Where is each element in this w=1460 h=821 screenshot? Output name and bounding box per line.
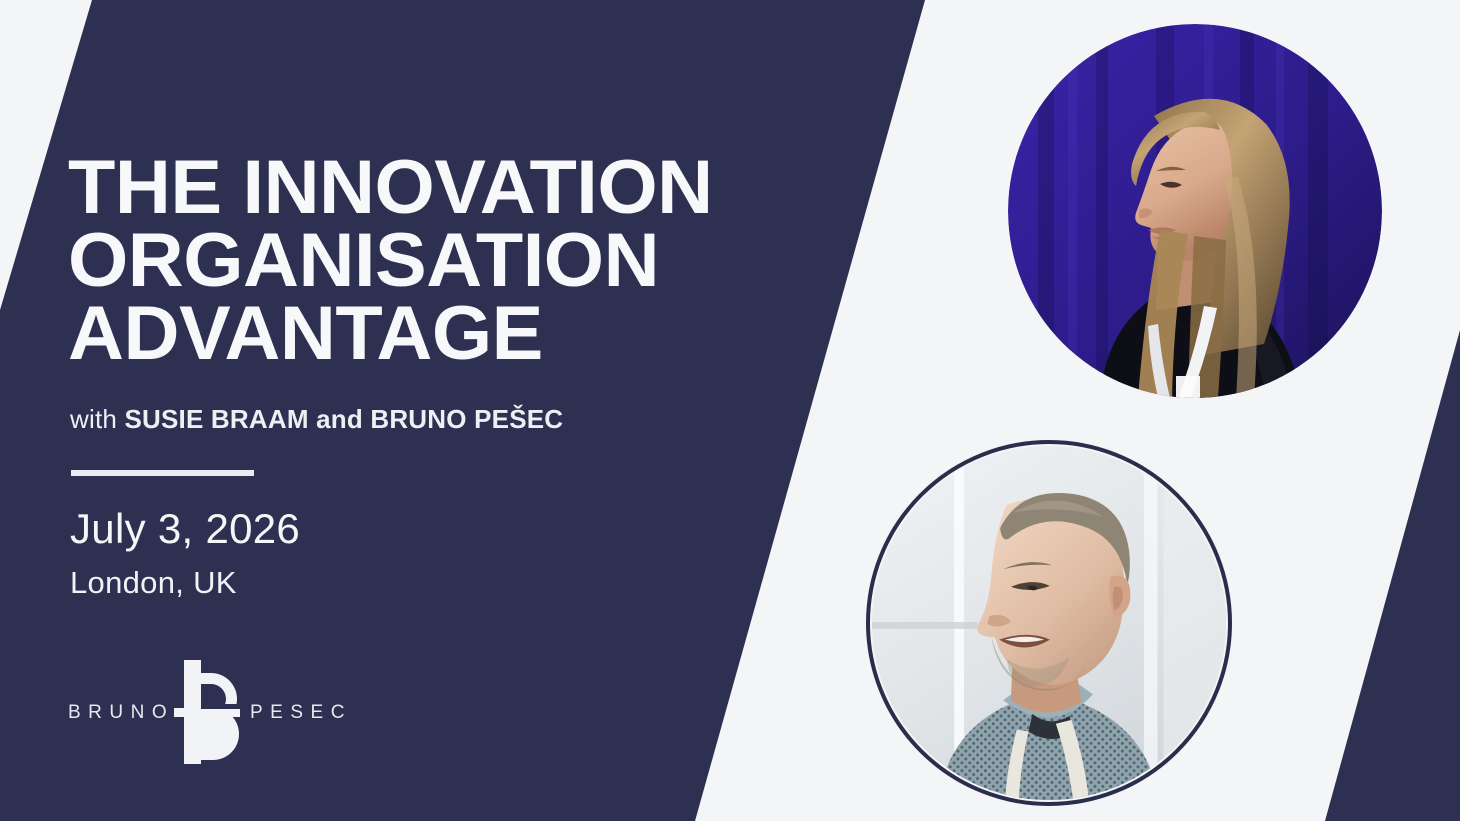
- bp-monogram-icon: [174, 660, 250, 764]
- logo-word-pesec: PESEC: [250, 702, 352, 724]
- speakers-names: SUSIE BRAAM and BRUNO PEŠEC: [124, 404, 563, 434]
- speakers-prefix: with: [70, 404, 124, 434]
- speaker-photo-bruno-pesec: [866, 440, 1232, 806]
- brand-logo: BRUNO PESEC: [64, 660, 354, 764]
- susie-braam-portrait: [1008, 24, 1382, 398]
- title-line-3: ADVANTAGE: [68, 298, 843, 371]
- poster-content: THE INNOVATION ORGANISATION ADVANTAGE wi…: [0, 0, 860, 821]
- event-date: July 3, 2026: [70, 505, 300, 553]
- event-announcement-poster: THE INNOVATION ORGANISATION ADVANTAGE wi…: [0, 0, 1460, 821]
- speaker-photo-susie-braam: [1008, 24, 1382, 398]
- title-line-1: THE INNOVATION: [68, 152, 843, 225]
- bruno-pesec-portrait: [870, 444, 1228, 802]
- divider-rule: [71, 470, 254, 476]
- speakers-line: with SUSIE BRAAM and BRUNO PEŠEC: [70, 404, 563, 435]
- title-line-2: ORGANISATION: [68, 225, 843, 298]
- event-location: London, UK: [70, 565, 237, 601]
- logo-word-bruno: BRUNO: [68, 702, 174, 724]
- page-title: THE INNOVATION ORGANISATION ADVANTAGE: [68, 152, 843, 371]
